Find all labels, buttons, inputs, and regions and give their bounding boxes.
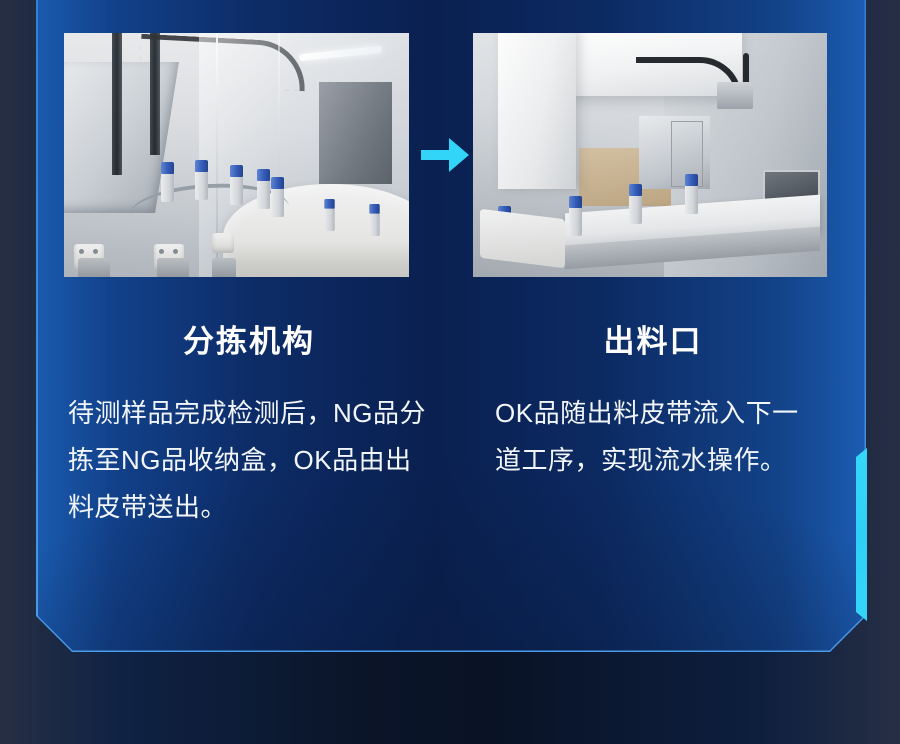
section-title: 出料口: [473, 322, 833, 362]
vial: [369, 212, 379, 236]
vial: [569, 206, 582, 236]
column-discharge-outlet: 出料口 OK品随出料皮带流入下一道工序，实现流水操作。: [473, 322, 833, 484]
section-body: OK品随出料皮带流入下一道工序，实现流水操作。: [473, 390, 818, 484]
discharge-outlet-photo: [473, 33, 827, 277]
rear-cabinet: [319, 82, 391, 184]
vial: [230, 175, 243, 205]
collection-can: [157, 258, 189, 277]
section-body: 待测样品完成检测后，NG品分拣至NG品收纳盒，OK品由出料皮带送出。: [64, 390, 432, 531]
vial: [629, 194, 642, 224]
gantry-column: [498, 33, 576, 189]
collection-can: [212, 258, 236, 277]
vial: [257, 179, 270, 209]
mount-bracket: [717, 82, 752, 109]
gripper-clamp: [212, 233, 234, 253]
section-title: 分拣机构: [64, 322, 434, 362]
vial: [195, 170, 208, 200]
vial: [685, 184, 698, 214]
accent-bar: [856, 448, 867, 621]
arrow-right-icon: [419, 132, 471, 178]
machine-column: [112, 33, 122, 175]
collection-can: [78, 258, 110, 277]
discharge-chute: [480, 208, 565, 267]
vial: [324, 207, 334, 231]
column-sorting-mechanism: 分拣机构 待测样品完成检测后，NG品分拣至NG品收纳盒，OK品由出料皮带送出。: [64, 322, 434, 531]
vial: [271, 187, 284, 217]
vial: [161, 172, 174, 202]
sorting-mechanism-photo: [64, 33, 409, 277]
